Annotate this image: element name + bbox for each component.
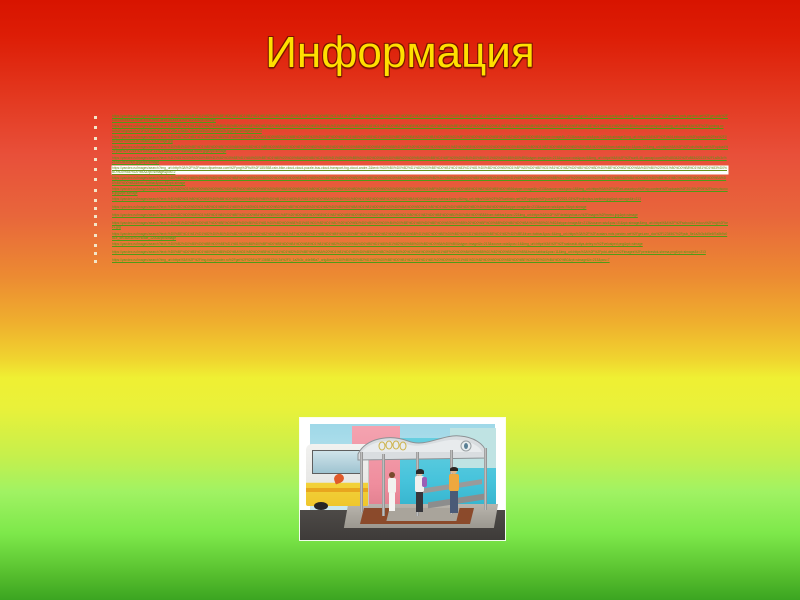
list-item: https://yandex.ru/images/search?text=%D1… [88,187,728,195]
list-item: https://yandex.ru/images/search?text=%D1… [88,197,728,203]
picture-frame [300,418,505,540]
photo-shelter-roof [356,432,488,460]
hyperlink[interactable]: https://yandex.ru/images/search?text=%D0… [112,232,728,240]
list-item: https://yandex.ru/images/search?text=%D1… [88,156,728,164]
page-title: Информация [265,27,534,79]
hyperlink[interactable]: https://yandex.ru/images/search?text=%D0… [112,176,728,184]
list-item: https://yandex.ru/images/search?text=%D0… [88,114,728,122]
link-list: https://yandex.ru/images/search?text=%D0… [88,114,728,264]
list-item: https://yandex.ru/images/search?img_url=… [88,258,728,264]
photo-bus-wheel [314,502,328,510]
hyperlink[interactable]: https://yandex.ru/images/search?text=%D0… [112,114,728,122]
photo-person-man [448,468,462,516]
photo-bus-stripe [306,488,368,492]
list-item: https://yandex.ru/images/search?text=%D0… [88,232,728,240]
hyperlink[interactable]: https://yandex.ru/images/search?text=%D0… [112,135,728,143]
hyperlink[interactable]: https://yandex.ru/images/search?text=%D1… [112,187,728,195]
hyperlink[interactable]: https://yandex.ru/images/search?text=%D0… [112,145,728,153]
hyperlink[interactable]: https://yandex.ru/images/search?text=%D0… [112,124,728,132]
hyperlink[interactable]: https://yandex.ru/images/search?text=%D0… [112,221,728,229]
photo-shelter-post [382,454,385,516]
list-item: https://yandex.ru/images/search?text=%D0… [88,176,728,184]
presentation-slide: Информация https://yandex.ru/images/sear… [0,0,800,600]
photo-shelter-post [360,452,363,512]
list-item: https://yandex.ru/images/search?img_url=… [88,166,728,174]
hyperlink[interactable]: https://yandex.ru/images/search?text=%D0… [112,242,728,246]
hyperlink[interactable]: https://yandex.ru/images/search?img_url=… [112,166,728,174]
list-item: https://yandex.ru/images/search?text=%D0… [88,145,728,153]
hyperlink[interactable]: https://yandex.ru/images/search?text=%D0… [112,250,728,254]
hyperlink[interactable]: https://yandex.ru/images/search?text=%D0… [112,205,728,209]
list-item: https://yandex.ru/images/search?text=%D0… [88,213,728,219]
list-item: https://yandex.ru/images/search?text=%D0… [88,124,728,132]
photo-shelter-post [484,448,487,510]
list-item: https://yandex.ru/images/search?text=%D0… [88,242,728,248]
hyperlink[interactable]: https://yandex.ru/images/search?text=%D0… [112,213,728,217]
hyperlink[interactable]: https://yandex.ru/images/search?text=%D1… [112,156,728,164]
content-placeholder: https://yandex.ru/images/search?text=%D0… [88,114,728,266]
list-item: https://yandex.ru/images/search?text=%D0… [88,205,728,211]
bus-stop-shelter-photo [300,418,505,540]
list-item: https://yandex.ru/images/search?text=%D0… [88,135,728,143]
slide-title-placeholder: Информация [0,18,800,88]
photo-person-girl [414,470,428,516]
photo-bus-window [312,450,362,474]
hyperlink[interactable]: https://yandex.ru/images/search?text=%D1… [112,197,728,201]
list-item: https://yandex.ru/images/search?text=%D0… [88,250,728,256]
photo-person-woman [386,472,398,514]
hyperlink[interactable]: https://yandex.ru/images/search?img_url=… [112,258,728,262]
list-item: https://yandex.ru/images/search?text=%D0… [88,221,728,229]
